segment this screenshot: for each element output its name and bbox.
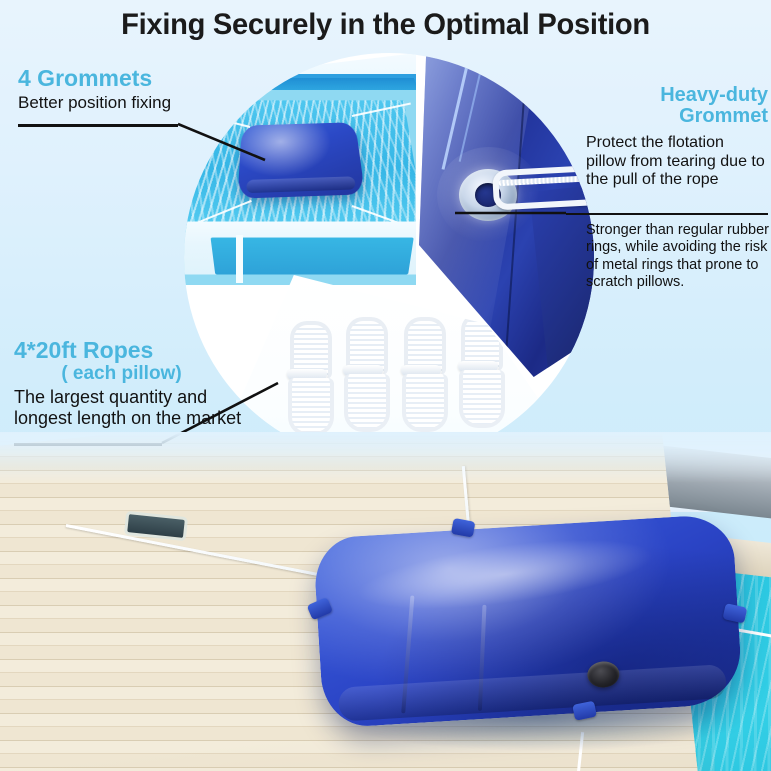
callout-heavy-duty-heading-line1: Heavy-duty [586,85,768,106]
callout-heavy-duty-body: Protect the flotation pillow from tearin… [586,134,768,190]
page-title: Fixing Securely in the Optimal Position [12,8,760,42]
callout-ropes-body: The largest quantity and longest length … [14,387,254,429]
callout-heavy-duty: Heavy-duty Grommet Protect the flotation… [586,85,768,190]
callout-heavy-duty-secondary: Stronger than regular rubber rings, whil… [586,222,770,292]
rope-coil-icon [398,317,444,429]
infographic-canvas: Fixing Securely in the Optimal Position [0,0,771,771]
pool-panel-divider [236,235,243,283]
callout-heavy-duty-rule [566,213,768,215]
callout-heavy-duty-heading-line2: Grommet [586,106,768,127]
hero-top-fade [0,432,771,771]
callout-grommets: 4 Grommets Better position fixing [18,66,268,113]
rope-through-grommet [492,164,594,211]
callout-heavy-duty-body2: Stronger than regular rubber rings, whil… [586,222,770,292]
pillow-in-pool [237,122,365,198]
callout-ropes: 4*20ft Ropes ( each pillow) The largest … [14,338,254,429]
callout-grommets-body: Better position fixing [18,93,268,113]
callout-grommets-heading: 4 Grommets [18,66,268,90]
callout-grommets-rule [18,124,178,127]
hero-photo-pool-pillow [0,432,771,771]
callout-ropes-heading: 4*20ft Ropes [14,338,254,362]
rope-coil-icon [284,321,330,433]
rope-coil-icon [340,317,386,429]
callout-ropes-subheading: ( each pillow) [14,363,229,385]
pool-rim-bottom [184,222,433,275]
